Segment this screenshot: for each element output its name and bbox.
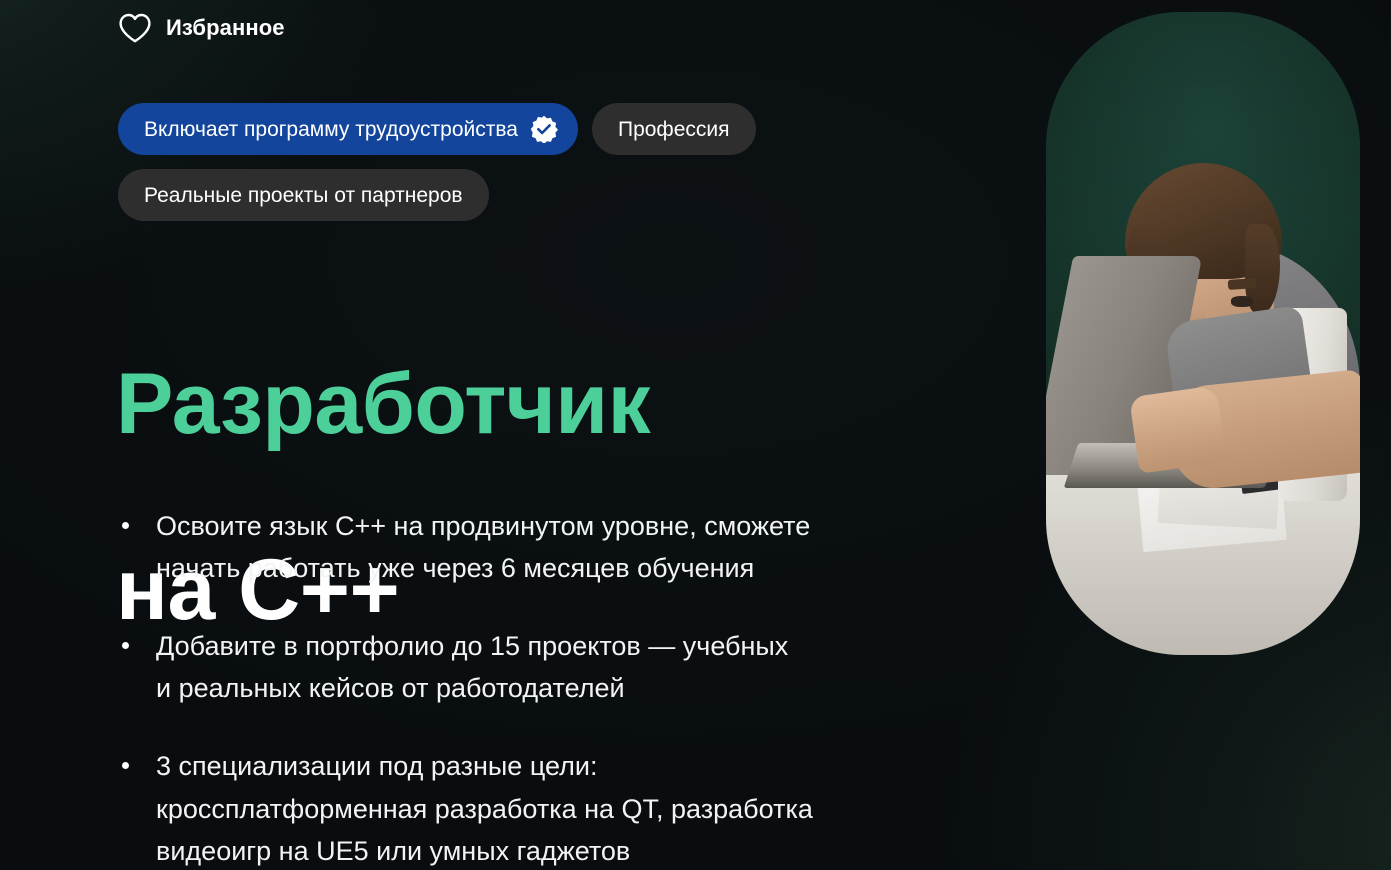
hero-photo <box>1046 12 1360 655</box>
person-brow-right <box>1228 278 1257 290</box>
badge-label: Включает программу трудоустройства <box>144 119 518 140</box>
course-hero-page: Избранное Включает программу трудоустрой… <box>0 0 1391 870</box>
verified-check-icon <box>530 115 558 143</box>
badge-label: Профессия <box>618 119 730 140</box>
feature-item: Добавите в портфолио до 15 проектов — уч… <box>118 625 948 709</box>
badge-employment-program[interactable]: Включает программу трудоустройства <box>118 103 578 155</box>
feature-item: 3 специализации под разные цели: кросспл… <box>118 745 948 870</box>
heart-icon <box>118 12 152 44</box>
person-eye-right <box>1231 296 1253 307</box>
badge-label: Реальные проекты от партнеров <box>144 185 463 206</box>
favourite-label: Избранное <box>166 15 285 41</box>
page-title-accent: Разработчик <box>116 358 650 451</box>
feature-item: Освоите язык C++ на продвинутом уровне, … <box>118 505 948 589</box>
favourite-button[interactable]: Избранное <box>118 12 285 44</box>
badge-list: Включает программу трудоустройства Профе… <box>118 103 918 221</box>
hero-photo-scene <box>1046 12 1360 655</box>
person-hand <box>1129 386 1227 475</box>
badge-real-projects[interactable]: Реальные проекты от партнеров <box>118 169 489 221</box>
badge-profession[interactable]: Профессия <box>592 103 756 155</box>
feature-list: Освоите язык C++ на продвинутом уровне, … <box>118 505 948 870</box>
